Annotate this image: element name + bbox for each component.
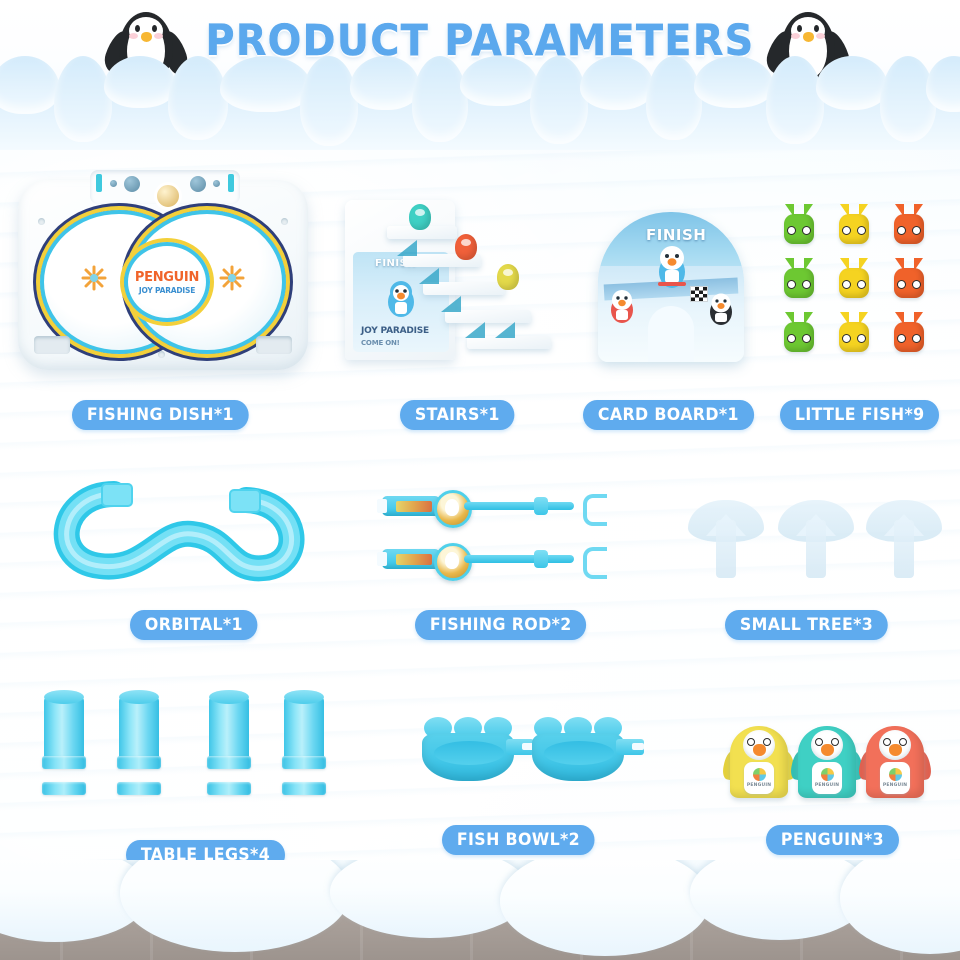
drip [816,56,888,110]
little-fish [782,312,816,352]
leg-tube [284,697,324,763]
mascot-cheek-right [154,33,163,39]
leg-cap [44,690,84,704]
small-tree [688,498,764,580]
penguin-beak [889,744,902,756]
fish-eye [802,334,811,343]
leg-cap [119,690,159,704]
small-tree [866,498,942,580]
leg-band [42,782,86,795]
drip [694,56,774,108]
leg-tube [209,697,249,763]
rod-sticker [396,501,432,512]
fish-eye [857,226,866,235]
stairs-ball [455,234,477,260]
leg-tube [119,697,159,763]
penguin-badge: PENGUIN [744,762,774,794]
fish-eye [897,226,906,235]
card-board-penguin-red [606,286,638,324]
bowl-cup [422,733,514,781]
fish-eye [912,280,921,289]
bottom-snow-band [0,860,960,960]
little-fish [892,258,926,298]
rod-shaft [464,502,574,510]
rod-sticker [396,554,432,565]
fishing-dish-shell: PENGUIN JOY PARADISE [18,180,308,370]
badge-emblem-icon [889,768,902,781]
checkered-flag-icon [690,286,708,302]
penguin-badge: PENGUIN [812,762,842,794]
logo-secondary-text: JOY PARADISE [139,286,195,295]
penguin-figure: PENGUIN [866,716,924,798]
fishing-rod [382,543,607,575]
small-tree [778,498,854,580]
header-banner: PRODUCT PARAMETERS [0,0,960,150]
label-fishing-rod: FISHING ROD*2 [415,610,586,640]
mascot-eye-right [814,25,819,32]
card-board-penguin-black [706,290,736,326]
stairs-step-hole [465,322,485,338]
infographic-canvas: PRODUCT PARAMETERS [0,0,960,960]
bowl-clip [616,739,644,755]
fishing-dish-logo: PENGUIN JOY PARADISE [124,242,210,322]
leg-band [117,756,161,769]
dish-slot [256,336,292,354]
badge-emblem-icon [821,768,834,781]
drip [460,56,538,106]
card-board-arch: FINISH [598,212,744,362]
little-fish [782,204,816,244]
fish-eye [842,280,851,289]
stairs-ball [409,204,431,230]
card-board-penguin-main [652,242,692,290]
fish-eye [912,226,921,235]
stairs-panel-subtitle: COME ON! [361,339,400,347]
drip [926,56,960,112]
little-fish [782,258,816,298]
penguin-badge: PENGUIN [880,762,910,794]
fish-eye [842,334,851,343]
mascot-cheek-left [129,33,138,39]
leg-band [207,782,251,795]
little-fish [892,312,926,352]
dish-screw [38,218,45,225]
drip [54,56,112,142]
leg-band [42,756,86,769]
label-fish-bowl: FISH BOWL*2 [442,825,595,855]
fish-eye [787,280,796,289]
rod-hook [583,494,607,526]
dish-tab [96,174,102,192]
table-leg [282,690,326,798]
fish-eye [787,334,796,343]
leg-tube [44,697,84,763]
drip [300,56,358,146]
drip [412,56,468,142]
bowl-inner [434,741,504,765]
little-fish [837,312,871,352]
fish-eye [857,334,866,343]
snowflake-icon [218,264,246,292]
rod-shaft [464,555,574,563]
dish-screw [110,180,117,187]
leg-band [117,782,161,795]
drip [104,56,176,108]
rod-notch [377,499,387,513]
dish-slot [34,336,70,354]
drip [350,56,420,110]
badge-text: PENGUIN [747,783,771,788]
table-leg [207,690,251,798]
dish-screw [158,351,165,358]
leg-band [282,756,326,769]
fishing-rod [382,490,607,522]
bowl-cup [532,733,624,781]
fish-eye [897,334,906,343]
dish-knob [124,176,140,192]
stairs-step-hole [495,322,515,338]
drip [580,56,654,110]
mascot-beak [803,32,814,42]
fish-eye [857,280,866,289]
mascot-eye-right [152,25,157,32]
leg-cap [284,690,324,704]
stairs-panel-title: JOY PARADISE [361,326,429,336]
card-board-notch [648,306,694,362]
badge-text: PENGUIN [815,783,839,788]
drip [766,56,824,144]
stairs-step-hole [397,240,417,256]
fish-eye [802,280,811,289]
logo-primary-text: PENGUIN [135,270,199,285]
label-fishing-dish: FISHING DISH*1 [72,400,249,430]
label-orbital: ORBITAL*1 [130,610,258,640]
label-small-tree: SMALL TREE*3 [725,610,888,640]
little-fish [837,204,871,244]
tree-trunk [894,520,914,578]
rod-mid-joint [534,550,548,568]
little-fish [837,258,871,298]
penguin-figure: PENGUIN [730,716,788,798]
little-fish-grid [782,204,942,364]
snowflake-icon [80,264,108,292]
dish-screw [213,180,220,187]
stairs-ball [497,264,519,290]
rod-notch [377,552,387,566]
badge-text: PENGUIN [883,783,907,788]
stairs-body: FINISH JOY PARADISE COME ON! [345,200,550,360]
fish-eye [912,334,921,343]
badge-emblem-icon [753,768,766,781]
label-penguin: PENGUIN*3 [766,825,899,855]
fish-eye [897,280,906,289]
drip [220,56,312,112]
dish-screw [281,218,288,225]
label-stairs: STAIRS*1 [400,400,515,430]
fish-bowl [420,715,524,785]
dish-knob [190,176,206,192]
table-leg [42,690,86,798]
penguin-figure: PENGUIN [798,716,856,798]
drip [168,56,228,140]
tree-trunk [806,520,826,578]
leg-cap [209,690,249,704]
fish-eye [787,226,796,235]
stairs-step-hole [419,268,439,284]
mascot-cheek-right [816,33,825,39]
little-fish [892,204,926,244]
mascot-eye-left [135,25,140,32]
penguin-beak [753,744,766,756]
penguin-beak [821,744,834,756]
drip [530,56,588,144]
fish-eye [802,226,811,235]
stairs-artwork-panel: FINISH JOY PARADISE COME ON! [353,252,449,352]
fish-eye [842,226,851,235]
drip [646,56,702,140]
stairs-penguin-art [383,278,419,318]
fish-bowl [530,715,634,785]
leg-band [282,782,326,795]
tree-trunk [716,520,736,578]
card-board-figure: FINISH [598,212,744,362]
rod-mid-joint [534,497,548,515]
drip [0,56,60,114]
dish-center-knob [154,182,182,210]
label-card-board: CARD BOARD*1 [583,400,754,430]
mascot-cheek-left [791,33,800,39]
table-leg [117,690,161,798]
bowl-inner [544,741,614,765]
mascot-eye-left [797,25,802,32]
rod-hook [583,547,607,579]
stairs-step-hole [441,296,461,312]
leg-band [207,756,251,769]
ice-drip-band [0,56,960,150]
mascot-beak [141,32,152,42]
orbital-track [42,476,314,586]
dish-tab [228,174,234,192]
label-little-fish: LITTLE FISH*9 [780,400,939,430]
